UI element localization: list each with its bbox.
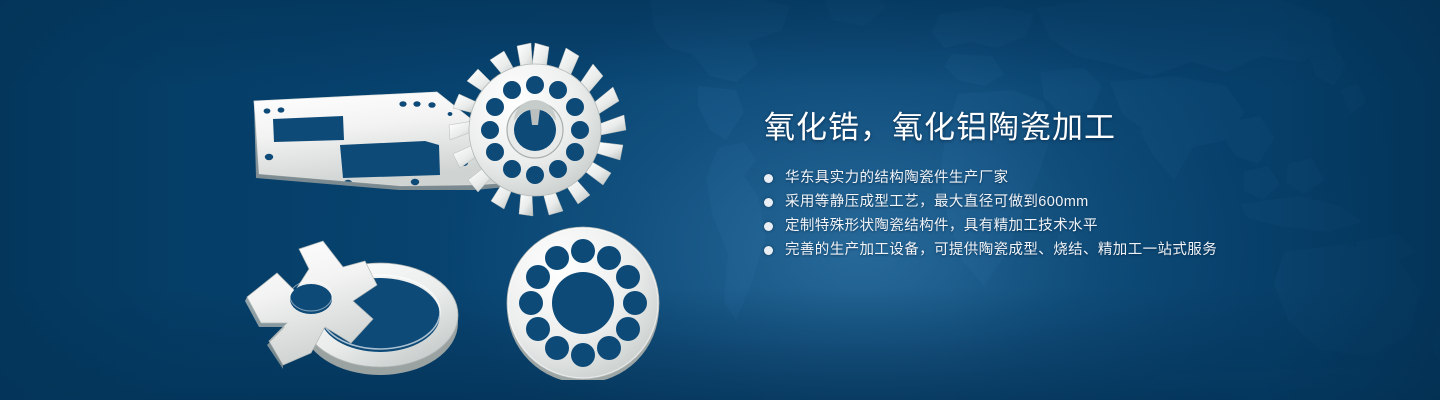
feature-item-label: 华东具实力的结构陶瓷件生产厂家: [785, 170, 1009, 186]
feature-item-label: 定制特殊形状陶瓷结构件，具有精加工技术水平: [785, 218, 1098, 234]
feature-item: 采用等静压成型工艺，最大直径可做到600mm: [764, 194, 1384, 210]
feature-item: 定制特殊形状陶瓷结构件，具有精加工技术水平: [764, 218, 1384, 234]
hero-banner: 氧化锆，氧化铝陶瓷加工 华东具实力的结构陶瓷件生产厂家 采用等静压成型工艺，最大…: [0, 0, 1440, 400]
feature-item-label: 采用等静压成型工艺，最大直径可做到600mm: [785, 194, 1089, 210]
bullet-dot-icon: [764, 198, 773, 207]
bullet-dot-icon: [764, 222, 773, 231]
ceramic-impeller: [449, 43, 626, 216]
bullet-dot-icon: [764, 174, 773, 183]
banner-copy: 氧化锆，氧化铝陶瓷加工 华东具实力的结构陶瓷件生产厂家 采用等静压成型工艺，最大…: [764, 108, 1384, 258]
feature-item: 华东具实力的结构陶瓷件生产厂家: [764, 170, 1384, 186]
product-photo: [225, 35, 705, 380]
ceramic-hole-disc: [507, 227, 659, 380]
feature-item-label: 完善的生产加工设备，可提供陶瓷成型、烧结、精加工一站式服务: [785, 242, 1217, 258]
banner-headline: 氧化锆，氧化铝陶瓷加工: [764, 108, 1384, 148]
feature-list: 华东具实力的结构陶瓷件生产厂家 采用等静压成型工艺，最大直径可做到600mm 定…: [764, 170, 1384, 258]
bullet-dot-icon: [764, 246, 773, 255]
feature-item: 完善的生产加工设备，可提供陶瓷成型、烧结、精加工一站式服务: [764, 242, 1384, 258]
